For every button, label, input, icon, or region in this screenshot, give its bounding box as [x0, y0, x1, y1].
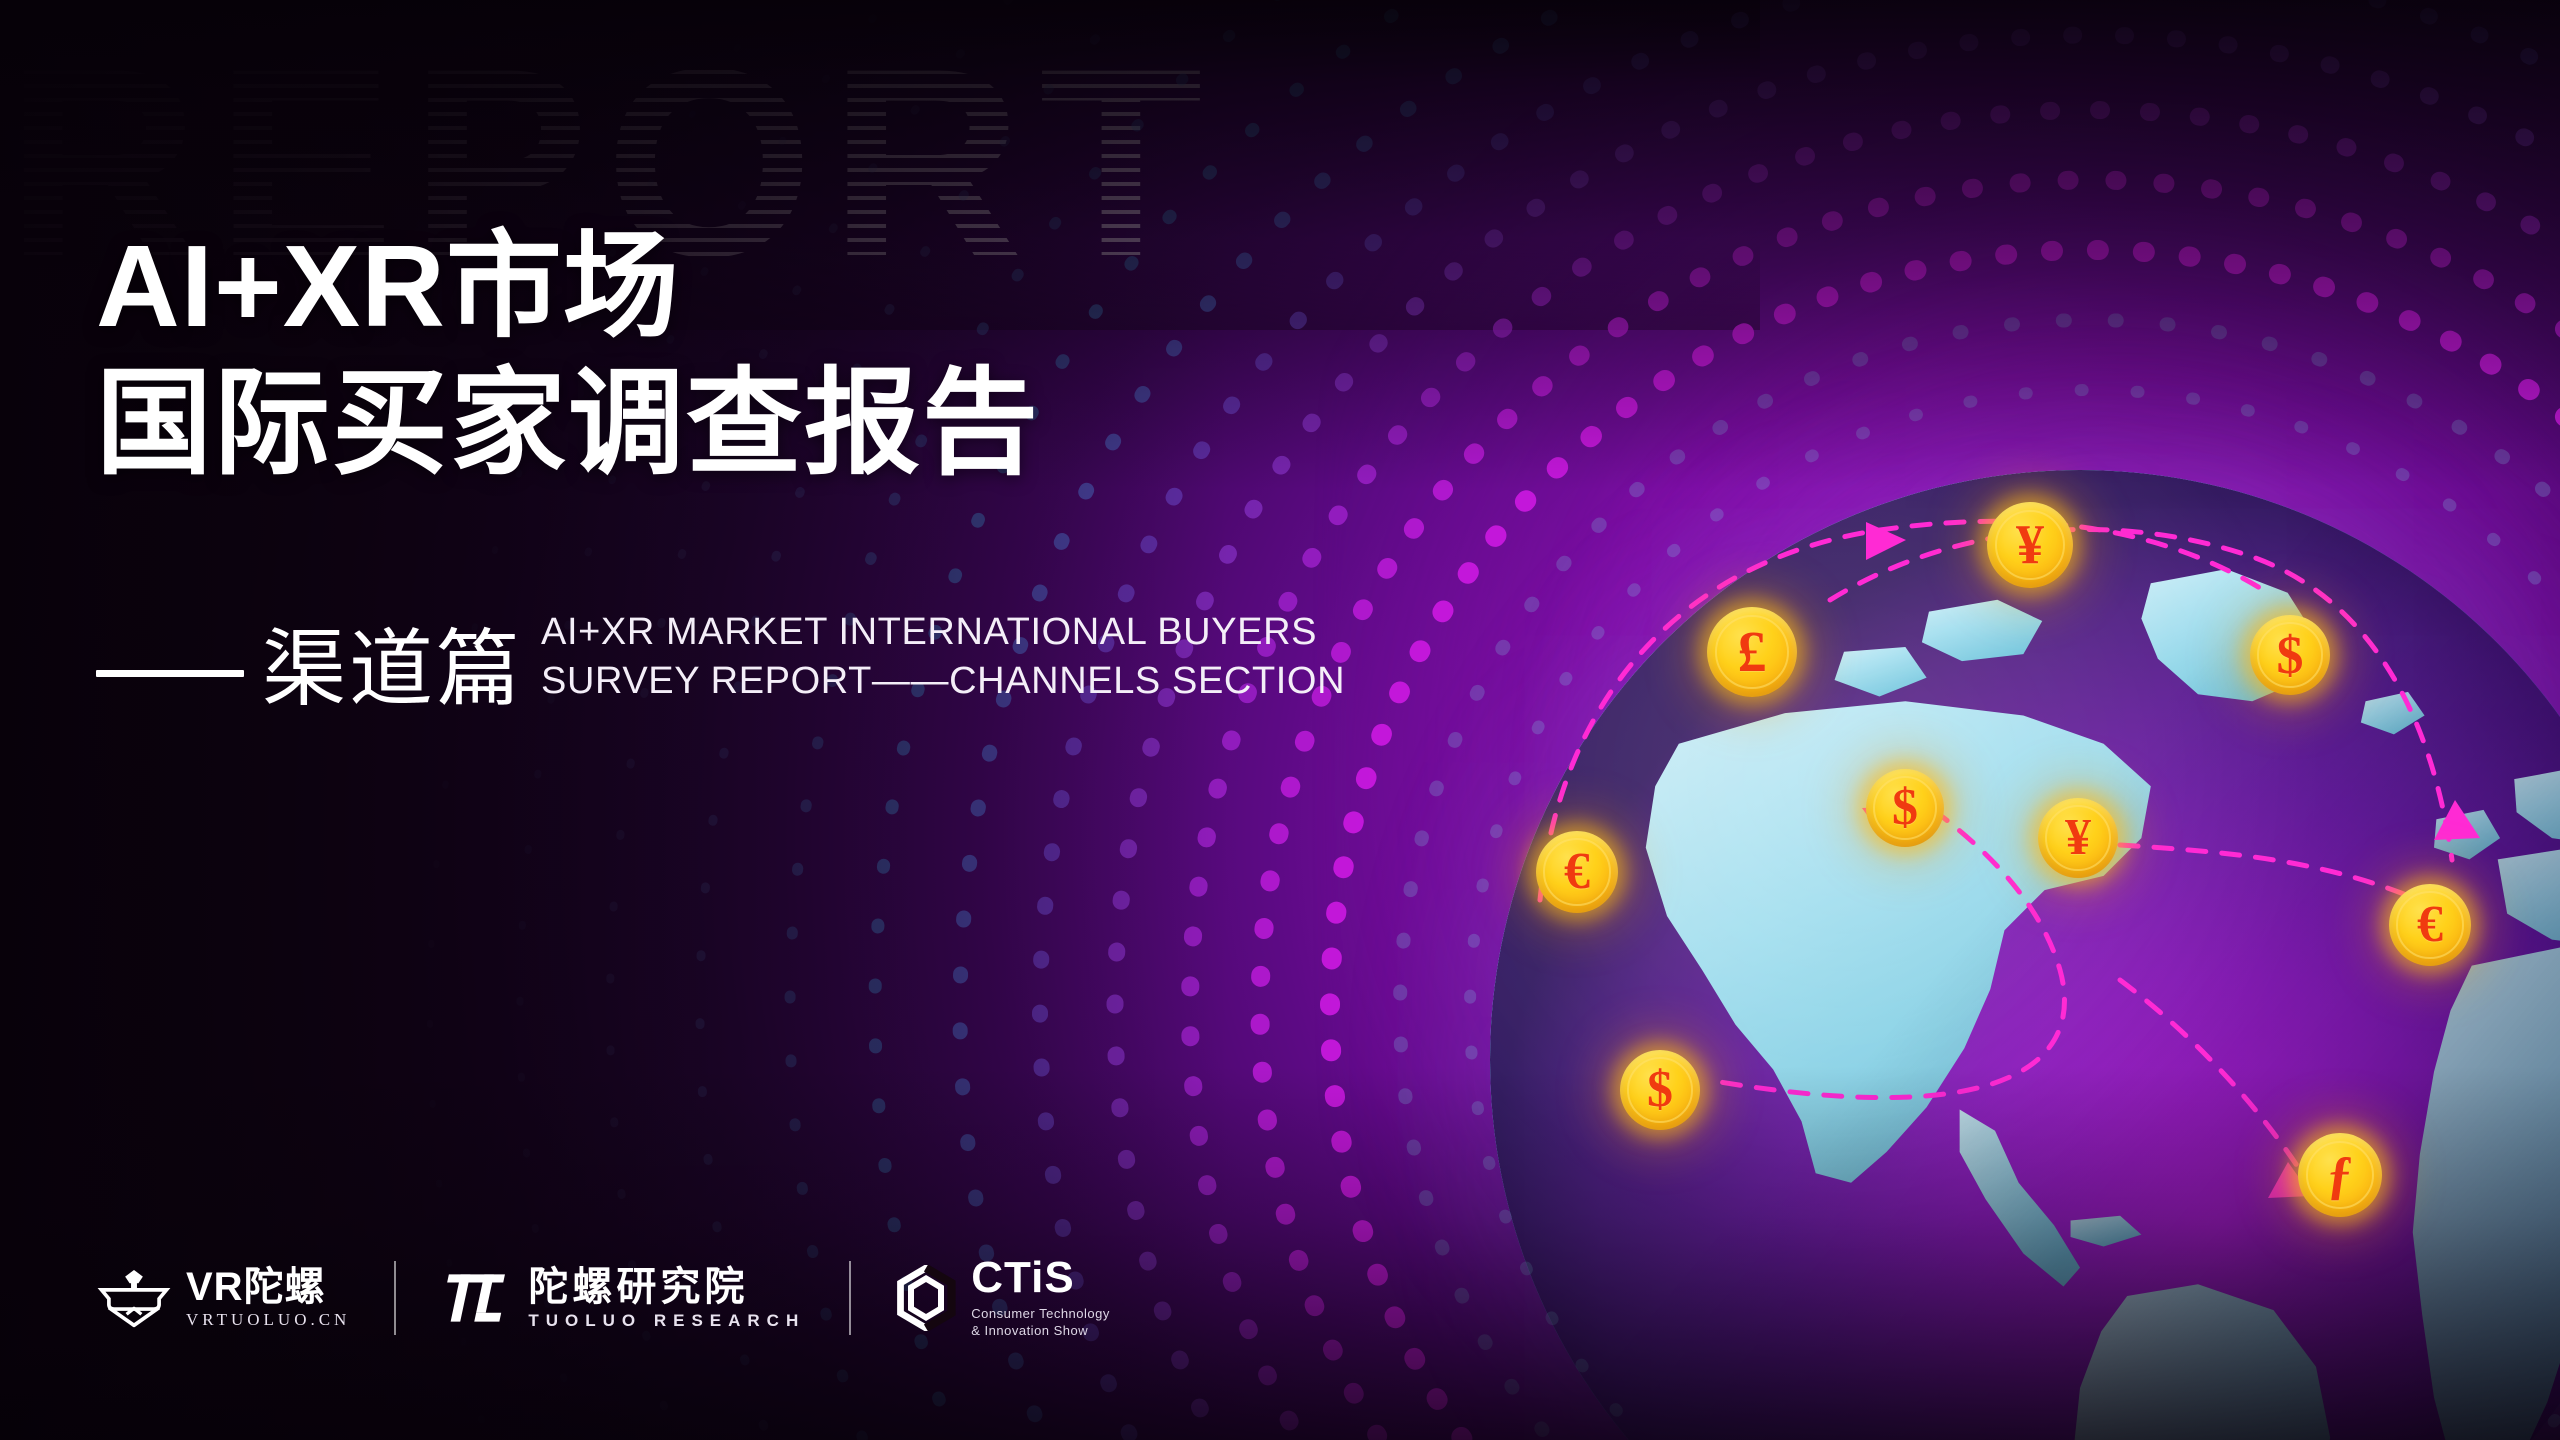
euro-coin-1-symbol: €	[1564, 846, 1590, 898]
dollar-coin-2-symbol: $	[1892, 782, 1918, 834]
euro-coin-2: €	[2389, 884, 2471, 966]
logo-tuoluo-research[interactable]: 陀螺研究院 TUOLUO RESEARCH	[440, 1267, 805, 1329]
florin-coin-symbol: ƒ	[2327, 1148, 2354, 1202]
euro-coin-2-symbol: €	[2417, 899, 2443, 951]
logo-tuoluo-name: 陀螺研究院	[528, 1267, 805, 1307]
logo-bar: VR陀螺 VRTUOLUO.CN 陀螺研究院 TUOLUO RESEARCH	[96, 1256, 1110, 1340]
yuan-coin-symbol: ¥	[2065, 812, 2091, 864]
section-label: 渠道篇	[262, 627, 523, 711]
dollar-coin-3: $	[1620, 1050, 1700, 1130]
vr-headset-icon	[96, 1267, 172, 1329]
title-line-2: 国际买家调查报告	[96, 355, 1040, 492]
logo-vrtuoluo[interactable]: VR陀螺 VRTUOLUO.CN	[96, 1267, 350, 1329]
dollar-coin-2: $	[1866, 769, 1944, 847]
florin-coin: ƒ	[2298, 1133, 2382, 1217]
logo-ctis-tagline: Consumer Technology & Innovation Show	[971, 1305, 1110, 1340]
yen-coin-symbol: ¥	[2016, 517, 2044, 573]
title-line-1: AI+XR市场	[96, 218, 1040, 355]
logo-ctis-tagline-line-2: & Innovation Show	[971, 1322, 1110, 1340]
yen-coin: ¥	[1987, 502, 2073, 588]
tl-monogram-icon	[440, 1267, 514, 1329]
dollar-coin-1: $	[2250, 615, 2330, 695]
pound-coin: £	[1707, 607, 1797, 697]
vignette-bottom	[0, 1066, 2560, 1440]
em-dash-rule	[96, 670, 244, 677]
subtitle-english-line-1: AI+XR MARKET INTERNATIONAL BUYERS	[541, 608, 1345, 657]
subtitle-english: AI+XR MARKET INTERNATIONAL BUYERS SURVEY…	[541, 608, 1345, 705]
logo-ctis-tagline-line-1: Consumer Technology	[971, 1305, 1110, 1323]
logo-ctis-name: CTiS	[971, 1256, 1110, 1300]
subtitle-row: 渠道篇 AI+XR MARKET INTERNATIONAL BUYERS SU…	[96, 608, 1345, 711]
logo-ctis[interactable]: CTiS Consumer Technology & Innovation Sh…	[895, 1256, 1110, 1340]
dollar-coin-3-symbol: $	[1647, 1064, 1673, 1116]
pound-coin-symbol: £	[1738, 623, 1767, 681]
poster-root: REPORT	[0, 0, 2560, 1440]
euro-coin-1: €	[1536, 831, 1618, 913]
subtitle-english-line-2: SURVEY REPORT——CHANNELS SECTION	[541, 657, 1345, 706]
ctis-hexagon-icon	[895, 1265, 957, 1331]
logo-vrtuoluo-name: VR陀螺	[186, 1267, 350, 1307]
logo-divider-2	[849, 1261, 851, 1335]
logo-divider-1	[394, 1261, 396, 1335]
dollar-coin-1-symbol: $	[2277, 628, 2304, 682]
logo-tuoluo-latin: TUOLUO RESEARCH	[528, 1312, 805, 1329]
page-title: AI+XR市场 国际买家调查报告	[96, 218, 1040, 492]
yuan-coin: ¥	[2038, 798, 2118, 878]
logo-vrtuoluo-domain: VRTUOLUO.CN	[186, 1311, 350, 1328]
